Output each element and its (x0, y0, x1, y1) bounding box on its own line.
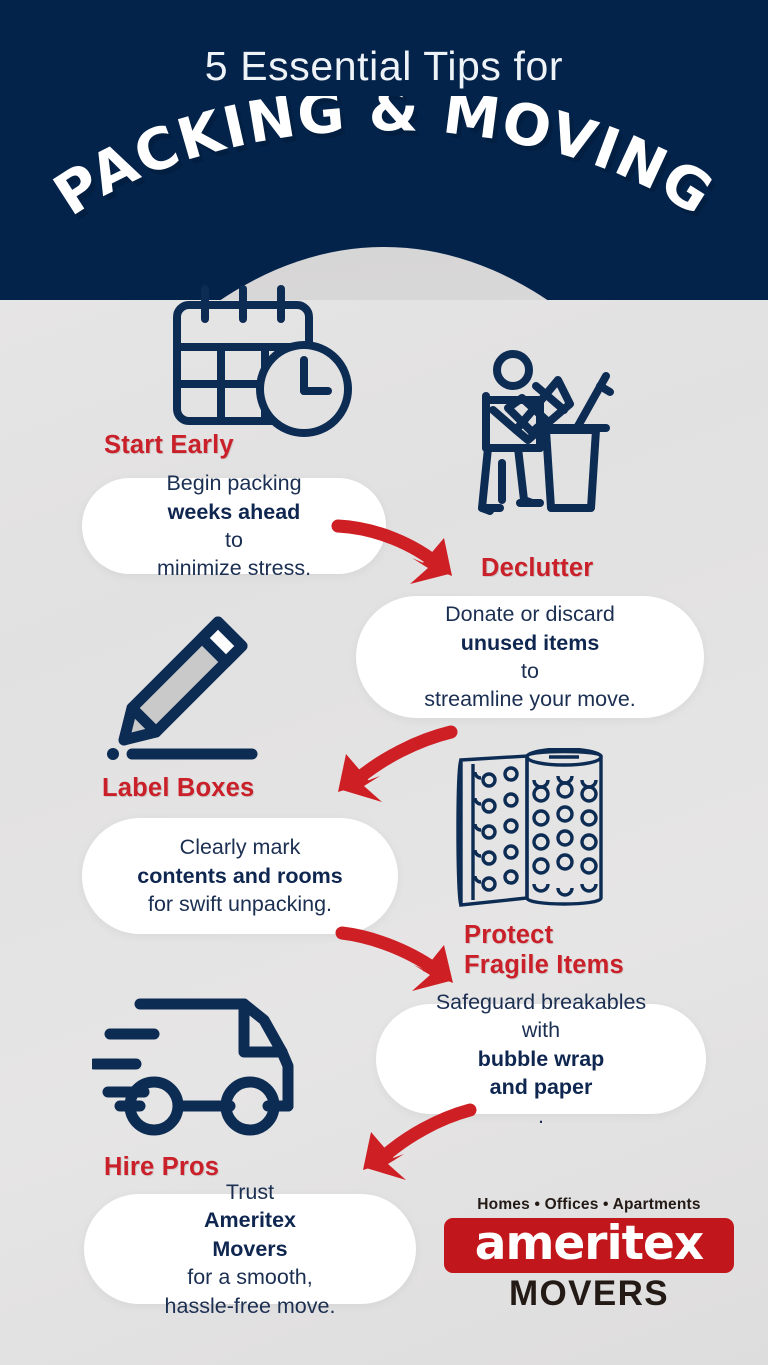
ameritex-logo[interactable]: Homes • Offices • Apartments ameritex MO… (444, 1196, 734, 1314)
calendar-clock-icon (168, 285, 358, 445)
pencil-underline-icon (104, 610, 269, 765)
tip-heading-line-2: Fragile Items (464, 950, 714, 980)
page-subtitle: 5 Essential Tips for (0, 44, 768, 89)
page-title-shadow: PACKING & MOVING (47, 96, 729, 234)
header-curve-divider (0, 247, 768, 300)
infographic-poster: 5 Essential Tips for PACKING & MOVING PA… (0, 0, 768, 1365)
logo-badge: ameritex (444, 1218, 734, 1273)
bubble-wrap-rolls-icon (455, 748, 655, 923)
person-trash-declutter-icon (466, 348, 676, 558)
logo-tagline: Homes • Offices • Apartments (444, 1196, 734, 1214)
tip-text-label-boxes: Clearly markcontents and roomsfor swift … (104, 833, 376, 918)
tip-text-start-early: Begin packingweeks ahead tominimize stre… (113, 469, 355, 583)
tip-text-declutter: Donate or discardunused items tostreamli… (380, 600, 680, 714)
tip-text-hire-pros: Trust AmeritexMovers for a smooth,hassle… (121, 1178, 380, 1320)
tip-bubble-declutter: Donate or discardunused items tostreamli… (356, 596, 704, 718)
tip-bubble-label-boxes: Clearly markcontents and roomsfor swift … (82, 818, 398, 934)
arrow-start-early-to-declutter (336, 512, 466, 592)
page-title: PACKING & MOVING (43, 96, 725, 229)
page-title-arc: PACKING & MOVING PACKING & MOVING (0, 96, 768, 266)
tip-heading-label-boxes: Label Boxes (102, 773, 254, 803)
tip-bubble-hire-pros: Trust AmeritexMovers for a smooth,hassle… (84, 1194, 416, 1304)
arrow-declutter-to-label-boxes (320, 730, 455, 810)
header-band: 5 Essential Tips for PACKING & MOVING PA… (0, 0, 768, 300)
logo-subword: MOVERS (444, 1274, 734, 1314)
arrow-protect-to-hire-pros (344, 1106, 474, 1186)
tip-heading-line-1: Protect (464, 920, 714, 950)
tip-heading-start-early: Start Early (104, 430, 234, 460)
tip-bubble-protect-fragile: Safeguard breakableswith bubble wrapand … (376, 1004, 706, 1114)
tip-heading-protect-fragile: Protect Fragile Items (464, 920, 714, 980)
tip-heading-declutter: Declutter (481, 553, 593, 583)
moving-truck-icon (92, 990, 352, 1140)
logo-wordmark: ameritex (458, 1220, 720, 1268)
